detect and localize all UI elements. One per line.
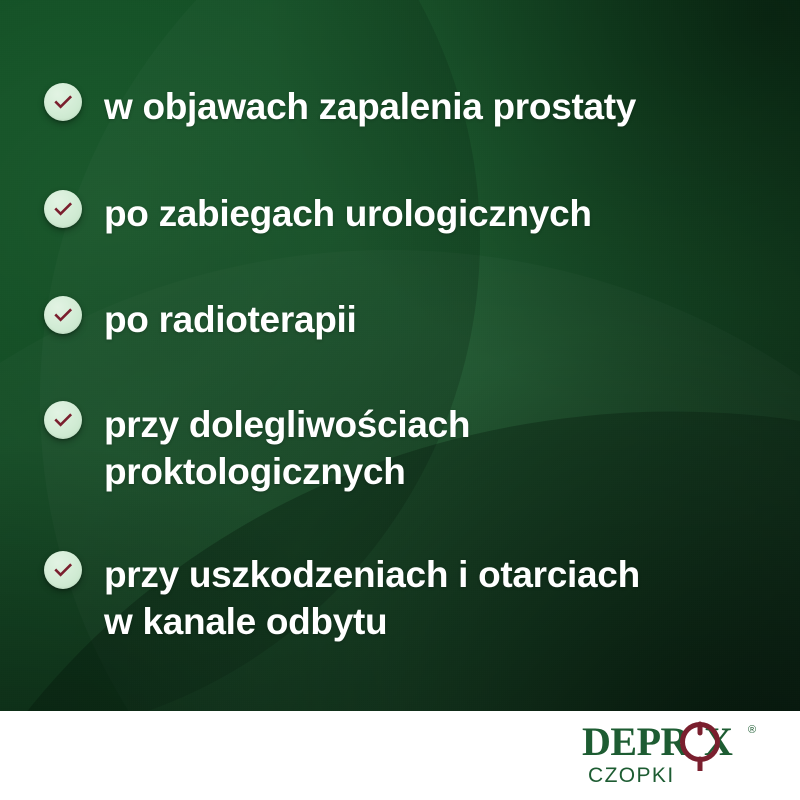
logo-subtitle: CZOPKI bbox=[588, 764, 675, 788]
indication-label: przy dolegliwościach proktologicznych bbox=[104, 401, 470, 495]
check-circle-icon bbox=[44, 83, 82, 121]
indication-label: w objawach zapalenia prostaty bbox=[104, 83, 636, 130]
indication-item: w objawach zapalenia prostaty bbox=[44, 83, 636, 130]
indication-label: po zabiegach urologicznych bbox=[104, 190, 592, 237]
registered-trademark-icon: ® bbox=[748, 724, 756, 736]
logo-letters-depr: DEPR bbox=[582, 721, 691, 764]
check-circle-icon bbox=[44, 401, 82, 439]
promo-poster: w objawach zapalenia prostatypo zabiegac… bbox=[0, 0, 800, 800]
indications-list: w objawach zapalenia prostatypo zabiegac… bbox=[0, 0, 800, 711]
check-circle-icon bbox=[44, 296, 82, 334]
indication-item: po zabiegach urologicznych bbox=[44, 190, 592, 237]
footer-band: DEPR X ® CZOPKI bbox=[0, 711, 800, 800]
check-circle-icon bbox=[44, 190, 82, 228]
indication-item: przy dolegliwościach proktologicznych bbox=[44, 401, 470, 495]
indication-item: przy uszkodzeniach i otarciach w kanale … bbox=[44, 551, 640, 645]
check-circle-icon bbox=[44, 551, 82, 589]
indication-label: po radioterapii bbox=[104, 296, 356, 343]
indication-item: po radioterapii bbox=[44, 296, 356, 343]
deprox-logo[interactable]: DEPR X ® CZOPKI bbox=[582, 721, 778, 791]
indication-label: przy uszkodzeniach i otarciach w kanale … bbox=[104, 551, 640, 645]
